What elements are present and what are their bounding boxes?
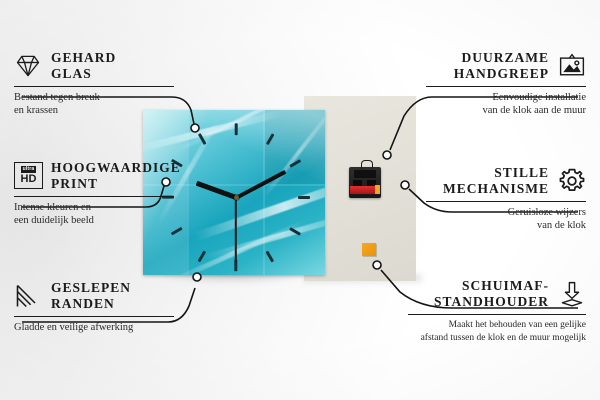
feature-title-line2: HANDGREEP [454, 66, 549, 82]
feature-subtitle-line1: Intense kleuren en [14, 201, 181, 214]
feature-header: DUURZAME HANDGREEP [426, 50, 586, 82]
feature-hoogwaardige-print: ultra HD HOOGWAARDIGE PRINT Intense kleu… [14, 160, 181, 227]
mechanism-hanger-icon [361, 160, 373, 169]
clock-center-pin [234, 195, 239, 200]
feature-titles: HOOGWAARDIGE PRINT [51, 160, 181, 192]
feature-header: GEHARD GLAS [14, 50, 174, 82]
feature-title-line1: GEHARD [51, 50, 116, 66]
feature-header: GESLEPEN RANDEN [14, 280, 174, 312]
feature-subtitle-line2: en krassen [14, 104, 174, 117]
diagonal-lines-icon [14, 282, 42, 310]
feature-header: STILLE MECHANISME [426, 165, 586, 197]
glass-panel-wash-right [265, 110, 325, 184]
feature-titles: DUURZAME HANDGREEP [454, 50, 549, 82]
feature-title-line1: HOOGWAARDIGE [51, 160, 181, 176]
feature-divider [14, 86, 174, 87]
clock-tick [298, 196, 310, 199]
clock-tick [235, 123, 238, 135]
feature-divider [426, 86, 586, 87]
ultra-hd-small-label: ultra [21, 166, 37, 173]
gear-icon [558, 167, 586, 195]
feature-subtitle-line1: Eenvoudige installatie [426, 91, 586, 104]
feature-title-line2: MECHANISME [443, 181, 549, 197]
glass-seam [187, 110, 189, 275]
feature-header: SCHUIMAF- STANDHOUDER [408, 278, 586, 310]
battery-terminal [375, 185, 380, 194]
feature-title-line1: STILLE [494, 165, 549, 181]
feature-titles: STILLE MECHANISME [443, 165, 549, 197]
down-arrow-stack-icon [558, 280, 586, 308]
feature-subtitle-line2: een duidelijk beeld [14, 214, 181, 227]
feature-stille-mechanisme: STILLE MECHANISME Geruisloze wijzers van… [426, 165, 586, 232]
feature-schuimafstandhouder: SCHUIMAF- STANDHOUDER Maakt het behouden… [408, 278, 586, 345]
diamond-icon [14, 52, 42, 80]
foam-spacer [362, 243, 376, 256]
feature-subtitle-line2: afstand tussen de klok en de muur mogeli… [408, 332, 586, 345]
feature-title-line1: GESLEPEN [51, 280, 131, 296]
clock-tick [266, 251, 274, 263]
feature-titles: SCHUIMAF- STANDHOUDER [434, 278, 549, 310]
feature-header: ultra HD HOOGWAARDIGE PRINT [14, 160, 181, 192]
feature-subtitle-line1: Geruisloze wijzers [426, 206, 586, 219]
feature-title-line2: RANDEN [51, 296, 115, 312]
feature-subtitle-line1: Gladde en veilige afwerking [14, 321, 174, 334]
feature-subtitle-line2: van de klok [426, 219, 586, 232]
ultra-hd-icon: ultra HD [14, 162, 42, 190]
feature-titles: GEHARD GLAS [51, 50, 116, 82]
feature-geslepen-randen: GESLEPEN RANDEN Gladde en veilige afwerk… [14, 280, 174, 334]
glass-seam [263, 110, 265, 275]
second-hand [235, 197, 237, 263]
feature-title-line1: SCHUIMAF- [462, 278, 549, 294]
feature-subtitle-line1: Maakt het behouden van een gelijke [408, 319, 586, 332]
feature-subtitle-line1: Bestand tegen breuk [14, 91, 174, 104]
feature-title-line1: DUURZAME [462, 50, 550, 66]
feature-duurzame-handgreep: DUURZAME HANDGREEP Eenvoudige installati… [426, 50, 586, 117]
feature-divider [426, 201, 586, 202]
feature-titles: GESLEPEN RANDEN [51, 280, 131, 312]
feature-divider [14, 196, 174, 197]
feature-subtitle-line2: van de klok aan de muur [426, 104, 586, 117]
mechanism-slot [354, 170, 376, 178]
feature-title-line2: GLAS [51, 66, 92, 82]
framed-picture-icon [558, 52, 586, 80]
feature-divider [14, 316, 174, 317]
ultra-hd-large-label: HD [21, 174, 37, 185]
feature-title-line2: PRINT [51, 176, 98, 192]
feature-gehard-glas: GEHARD GLAS Bestand tegen breuk en krass… [14, 50, 174, 117]
clock-tick [198, 251, 206, 263]
feature-title-line2: STANDHOUDER [434, 294, 549, 310]
feature-divider [408, 314, 586, 315]
infographic-canvas: GEHARD GLAS Bestand tegen breuk en krass… [0, 0, 600, 400]
